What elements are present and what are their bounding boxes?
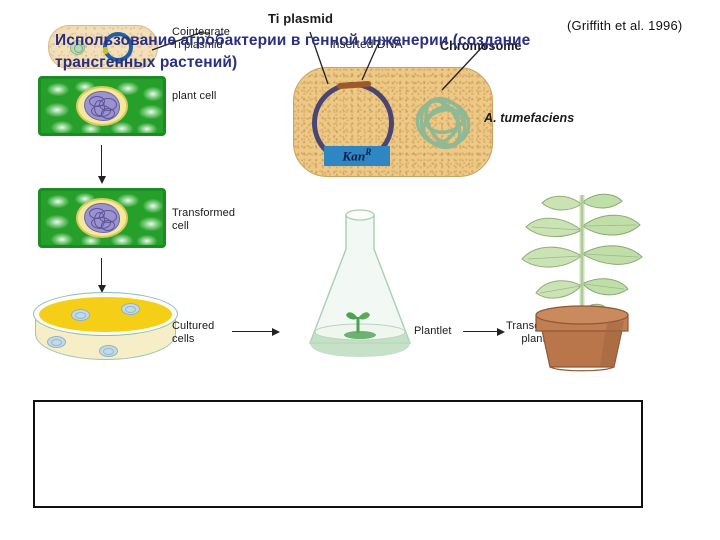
label-cultured-cells: Cultured cells <box>172 320 214 346</box>
chloroplast <box>143 199 163 213</box>
plant-cell <box>38 76 166 136</box>
agar-medium <box>39 297 172 332</box>
petri-dish <box>33 292 178 372</box>
chloroplast <box>111 234 133 247</box>
label-plant-cell: plant cell <box>172 90 216 103</box>
arrow-down-icon <box>101 145 102 177</box>
chloroplast <box>51 121 73 134</box>
cell-colony <box>47 336 66 348</box>
cell-colony <box>71 309 90 321</box>
kan-resistance-marker: KanR <box>324 146 390 166</box>
caption-box <box>33 400 643 508</box>
cell-nucleus <box>84 91 120 121</box>
chloroplast <box>47 83 69 96</box>
citation-credit: (Griffith et al. 1996) <box>567 18 682 33</box>
kan-label: KanR <box>342 147 371 164</box>
transformed-cell-nucleus <box>84 203 120 233</box>
caption-text: Использование агробактерии в генной инже… <box>55 30 575 74</box>
label-transformed-cell: Transformed cell <box>172 207 235 233</box>
chloroplast <box>45 215 69 229</box>
chloroplast <box>139 217 163 231</box>
arrow-right-icon <box>232 331 272 332</box>
label-plantlet: Plantlet <box>414 325 452 338</box>
label-ti-plasmid: Ti plasmid <box>268 12 333 25</box>
chloroplast <box>45 103 69 117</box>
label-a-tumefaciens: A. tumefaciens <box>484 112 574 125</box>
slide-canvas: (Griffith et al. 1996) Cointegrate Ti pl… <box>0 0 720 540</box>
chloroplast <box>137 235 157 247</box>
chloroplast <box>111 122 133 135</box>
chloroplast <box>47 195 69 208</box>
arrow-down-icon <box>101 258 102 286</box>
bacterial-chromosome-icon <box>412 92 474 154</box>
cell-colony <box>121 303 140 315</box>
chloroplast <box>137 123 157 135</box>
chloroplast <box>51 233 73 246</box>
transgenic-plant-illustration <box>512 185 652 375</box>
transformed-plant-cell <box>38 188 166 248</box>
arrow-right-icon <box>463 331 497 332</box>
chloroplast <box>143 87 163 101</box>
cell-colony <box>99 345 118 357</box>
chloroplast <box>139 105 163 119</box>
erlenmeyer-flask <box>300 205 420 365</box>
